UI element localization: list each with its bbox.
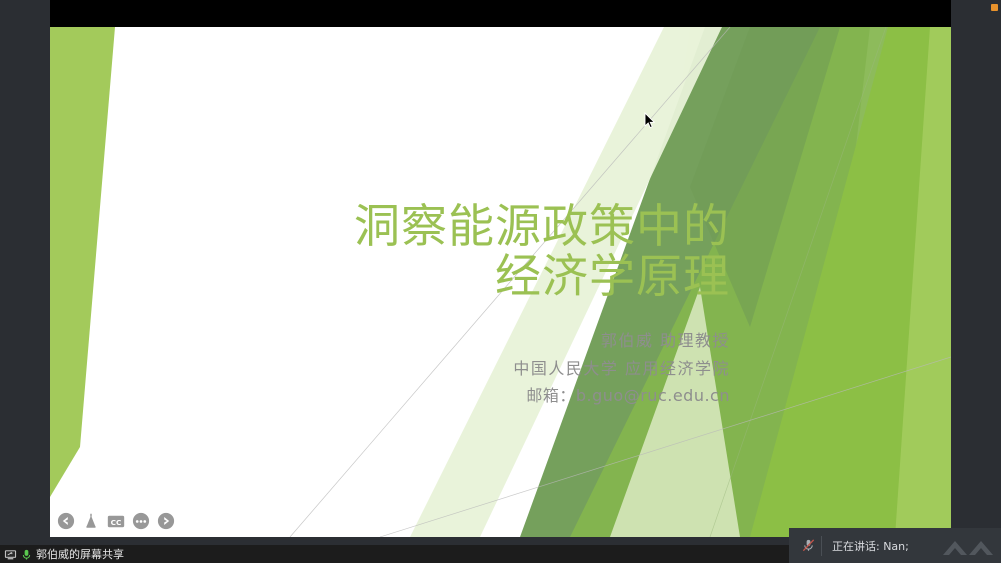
previous-slide-button[interactable] <box>57 512 75 530</box>
pointer-tool-button[interactable] <box>82 512 100 530</box>
speaking-notification[interactable]: 正在讲话: Nan; <box>789 528 1001 563</box>
svg-text:CC: CC <box>111 517 122 526</box>
cc-icon: CC <box>107 513 125 530</box>
microphone-icon <box>20 548 33 561</box>
double-chevron-logo-icon <box>941 535 997 557</box>
ellipsis-circle-icon <box>132 512 150 530</box>
closed-captions-button[interactable]: CC <box>107 512 125 530</box>
top-letterbox-bar <box>50 0 951 27</box>
subtitle-affiliation: 中国人民大学 应用经济学院 <box>270 355 730 383</box>
screen-share-icon <box>4 548 17 561</box>
arrow-right-circle-icon <box>157 512 175 530</box>
taskbar-item-label: 郭伯威的屏幕共享 <box>36 546 124 562</box>
slideshow-control-bar[interactable]: CC <box>53 509 179 533</box>
slide-title-line-2: 经济学原理 <box>170 252 730 302</box>
next-slide-button[interactable] <box>157 512 175 530</box>
subtitle-presenter: 郭伯威 助理教授 <box>270 327 730 355</box>
slide-title-line-1: 洞察能源政策中的 <box>170 202 730 252</box>
microphone-muted-icon <box>795 538 821 553</box>
left-gutter <box>0 0 50 545</box>
taskbar-item-screen-share[interactable]: 郭伯威的屏幕共享 <box>0 545 128 563</box>
arrow-left-circle-icon <box>57 512 75 530</box>
slide-subtitle: 郭伯威 助理教授 中国人民大学 应用经济学院 邮箱：b.guo@ruc.edu.… <box>270 327 730 410</box>
recording-indicator-icon <box>991 4 998 11</box>
pen-pointer-icon <box>82 512 100 530</box>
screen-share-viewer: 洞察能源政策中的 经济学原理 郭伯威 助理教授 中国人民大学 应用经济学院 邮箱… <box>0 0 1001 563</box>
presentation-slide[interactable]: 洞察能源政策中的 经济学原理 郭伯威 助理教授 中国人民大学 应用经济学院 邮箱… <box>50 27 951 537</box>
more-options-button[interactable] <box>132 512 150 530</box>
subtitle-email: 邮箱：b.guo@ruc.edu.cn <box>270 382 730 410</box>
right-gutter <box>951 0 1001 545</box>
slide-title: 洞察能源政策中的 经济学原理 <box>170 202 730 301</box>
notification-divider <box>821 536 822 556</box>
